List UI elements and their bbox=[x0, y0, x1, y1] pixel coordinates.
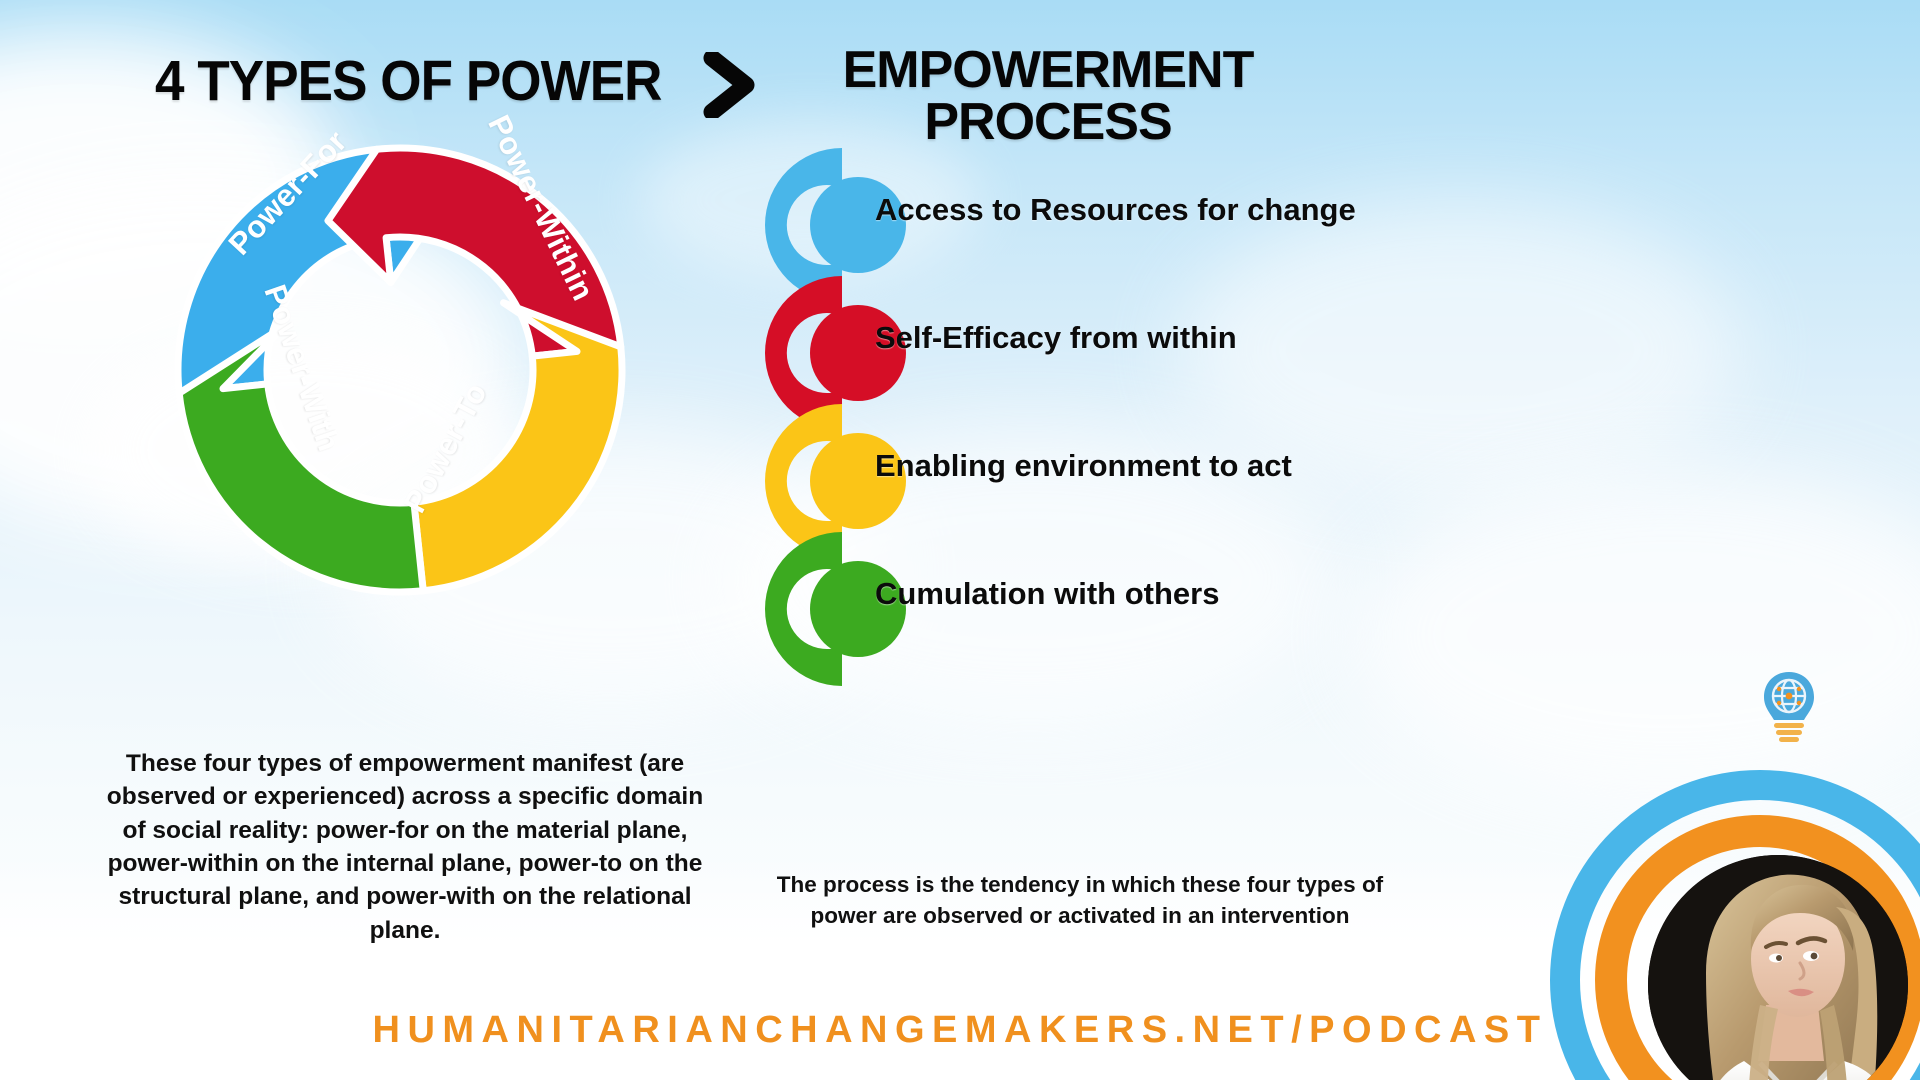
wheel-caption: These four types of empowerment manifest… bbox=[100, 747, 710, 947]
process-step-label: Self-Efficacy from within bbox=[875, 320, 1237, 356]
process-step-cumulation[interactable]: Cumulation with others bbox=[700, 524, 1460, 694]
wheel-svg bbox=[160, 130, 640, 600]
process-step-label: Access to Resources for change bbox=[875, 192, 1356, 228]
chevron-right-icon bbox=[700, 52, 760, 118]
page-title-left: 4 TYPES OF POWER bbox=[155, 48, 661, 114]
process-step-label: Enabling environment to act bbox=[875, 448, 1292, 484]
process-caption: The process is the tendency in which the… bbox=[770, 870, 1390, 931]
page-title-right: EMPOWERMENT PROCESS bbox=[818, 44, 1278, 148]
page-title-right-line1: EMPOWERMENT bbox=[818, 44, 1278, 96]
empowerment-process-list: Access to Resources for change Self-Effi… bbox=[700, 140, 1460, 680]
process-step-label: Cumulation with others bbox=[875, 576, 1219, 612]
lightbulb-globe-icon bbox=[1758, 670, 1820, 748]
power-types-wheel bbox=[160, 130, 640, 600]
footer-url[interactable]: HUMANITARIANCHANGEMAKERS.NET/PODCAST bbox=[0, 1009, 1920, 1052]
